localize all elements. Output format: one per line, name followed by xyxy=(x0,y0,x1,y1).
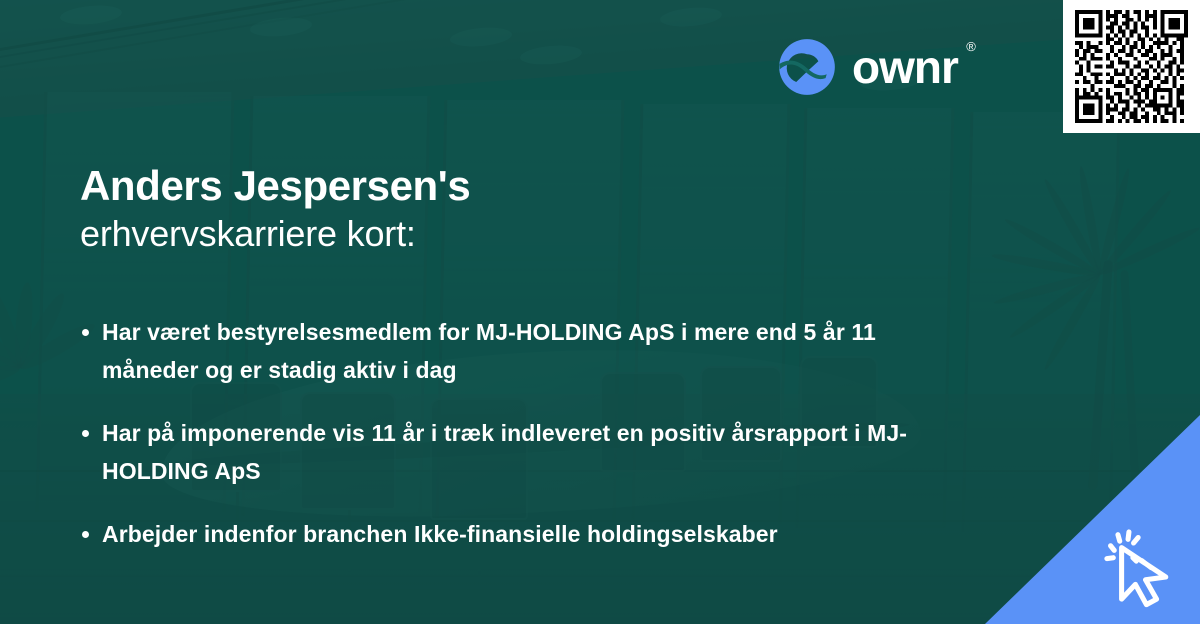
career-facts-list: Har været bestyrelsesmedlem for MJ-HOLDI… xyxy=(80,313,960,553)
list-item-text: Har på imponerende vis 11 år i træk indl… xyxy=(102,420,907,484)
ownr-wordmark: ownr ® xyxy=(852,38,958,96)
bullet-dot-icon xyxy=(82,531,89,538)
qr-code-image xyxy=(1075,10,1188,123)
list-item: Har på imponerende vis 11 år i træk indl… xyxy=(80,414,960,490)
list-item: Arbejder indenfor branchen Ikke-finansie… xyxy=(80,515,960,553)
list-item-text: Arbejder indenfor branchen Ikke-finansie… xyxy=(102,521,778,547)
list-item: Har været bestyrelsesmedlem for MJ-HOLDI… xyxy=(80,313,960,389)
title-line-2: erhvervskarriere kort: xyxy=(80,211,470,257)
bullet-dot-icon xyxy=(82,430,89,437)
page-title: Anders Jespersen's erhvervskarriere kort… xyxy=(80,161,470,257)
list-item-text: Har været bestyrelsesmedlem for MJ-HOLDI… xyxy=(102,319,876,383)
bullet-dot-icon xyxy=(82,329,89,336)
click-cursor-icon xyxy=(1094,520,1186,612)
business-career-card: ownr ® xyxy=(0,0,1200,624)
title-line-1: Anders Jespersen's xyxy=(80,161,470,211)
ownr-logo[interactable]: ownr ® xyxy=(778,38,958,96)
registered-trademark-symbol: ® xyxy=(966,40,975,53)
ownr-swoosh-circle-icon xyxy=(778,38,836,96)
qr-code[interactable] xyxy=(1063,0,1200,133)
ownr-wordmark-text: ownr xyxy=(852,41,958,93)
